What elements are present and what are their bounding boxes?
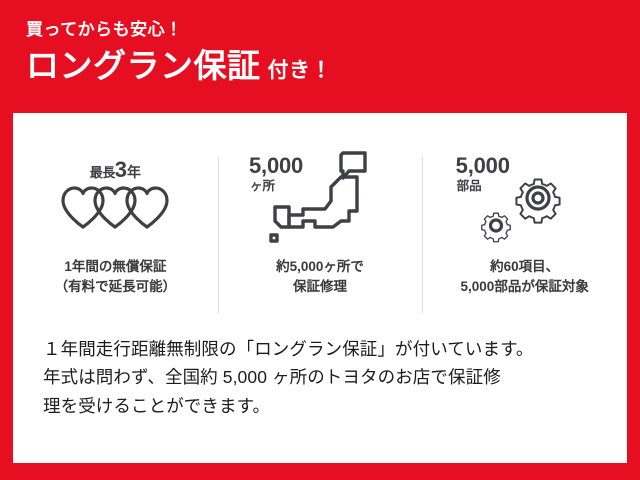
covered-parts-unit: 部品 — [457, 180, 482, 193]
service-locations-icon-block: 5,000 ヶ所 — [247, 145, 393, 251]
service-locations-caption-line2: 保証修理 — [276, 277, 364, 297]
header-kicker: 買ってからも安心！ — [26, 20, 606, 40]
header-title: ロングラン保証付き！ — [26, 49, 606, 82]
warranty-term-icon-block: 最長3年 — [42, 145, 188, 251]
warranty-term-label: 最長3年 — [42, 159, 188, 181]
service-locations-caption: 約5,000ヶ所で 保証修理 — [276, 257, 364, 298]
longrun-warranty-banner: 買ってからも安心！ ロングラン保証付き！ 最長3年 — [0, 0, 640, 480]
header-title-suffix: 付き！ — [268, 59, 333, 82]
header-title-strong: ロングラン保証 — [26, 47, 261, 84]
covered-parts-icon-block: 5,000 部品 — [452, 145, 598, 251]
feature-warranty-term: 最長3年 1年間の無償保証 （有料で延長可能） — [13, 145, 218, 317]
warranty-term-caption-line2: （有料で延長可能） — [55, 277, 177, 297]
warranty-term-caption: 1年間の無償保証 （有料で延長可能） — [55, 257, 177, 298]
service-locations-unit: ヶ所 — [250, 180, 275, 193]
covered-parts-caption-line2: 5,000部品が保証対象 — [461, 277, 589, 297]
warranty-term-caption-line1: 1年間の無償保証 — [55, 257, 177, 277]
body-line-1: １年間走行距離無制限の「ロングラン保証」が付いています。 — [43, 335, 603, 363]
feature-columns: 最長3年 1年間の無償保証 （有料で延長可能） — [13, 145, 627, 317]
content-panel: 最長3年 1年間の無償保証 （有料で延長可能） — [13, 113, 627, 463]
three-hearts-icon — [59, 181, 171, 236]
body-paragraph: １年間走行距離無制限の「ロングラン保証」が付いています。 年式は問わず、全国約 … — [43, 335, 603, 420]
covered-parts-caption-line1: 約60項目、 — [461, 257, 589, 277]
banner-header: 買ってからも安心！ ロングラン保証付き！ — [26, 20, 606, 82]
warranty-term-label-prefix: 最長 — [90, 165, 115, 180]
covered-parts-number: 5,000 — [456, 155, 510, 177]
service-locations-caption-line1: 約5,000ヶ所で — [276, 257, 364, 277]
feature-service-locations: 5,000 ヶ所 約5,000ヶ所で 保証修理 — [218, 145, 423, 317]
feature-covered-parts: 5,000 部品 約60項目、 5,000部品が保証対象 — [422, 145, 627, 317]
warranty-term-label-number: 3 — [115, 157, 127, 182]
covered-parts-caption: 約60項目、 5,000部品が保証対象 — [461, 257, 589, 298]
body-line-2: 年式は問わず、全国約 5,000 ヶ所のトヨタのお店で保証修 — [43, 363, 603, 391]
service-locations-number: 5,000 — [249, 155, 303, 177]
warranty-term-label-suffix: 年 — [127, 164, 141, 180]
body-line-3: 理を受けることができます。 — [43, 392, 603, 420]
